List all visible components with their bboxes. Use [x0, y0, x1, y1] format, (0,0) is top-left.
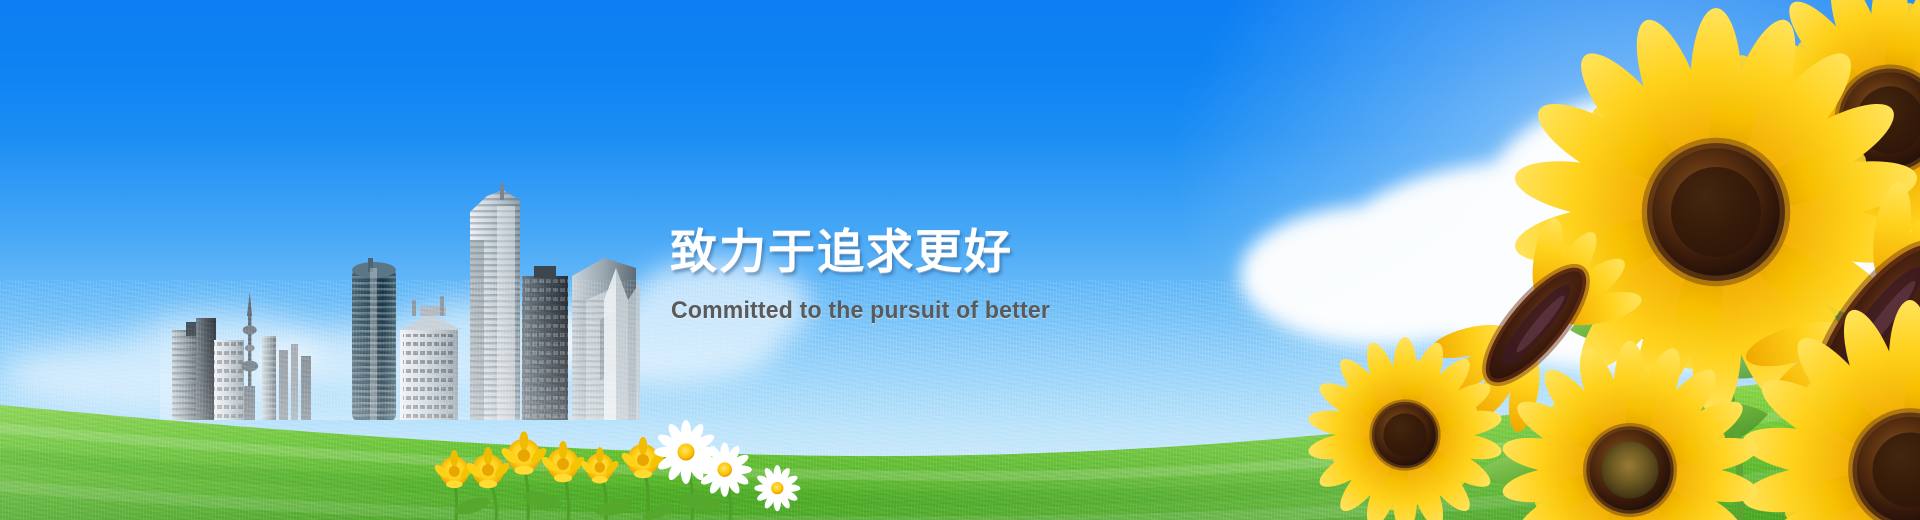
- page-subtitle: Committed to the pursuit of better: [671, 297, 1050, 326]
- hero-banner: 致力于追求更好 Committed to the pursuit of bett…: [0, 0, 1920, 520]
- sunflower-cluster-right: [1100, 0, 1920, 520]
- meadow-flowers-foreground: [400, 360, 820, 520]
- page-title: 致力于追求更好: [670, 228, 1013, 275]
